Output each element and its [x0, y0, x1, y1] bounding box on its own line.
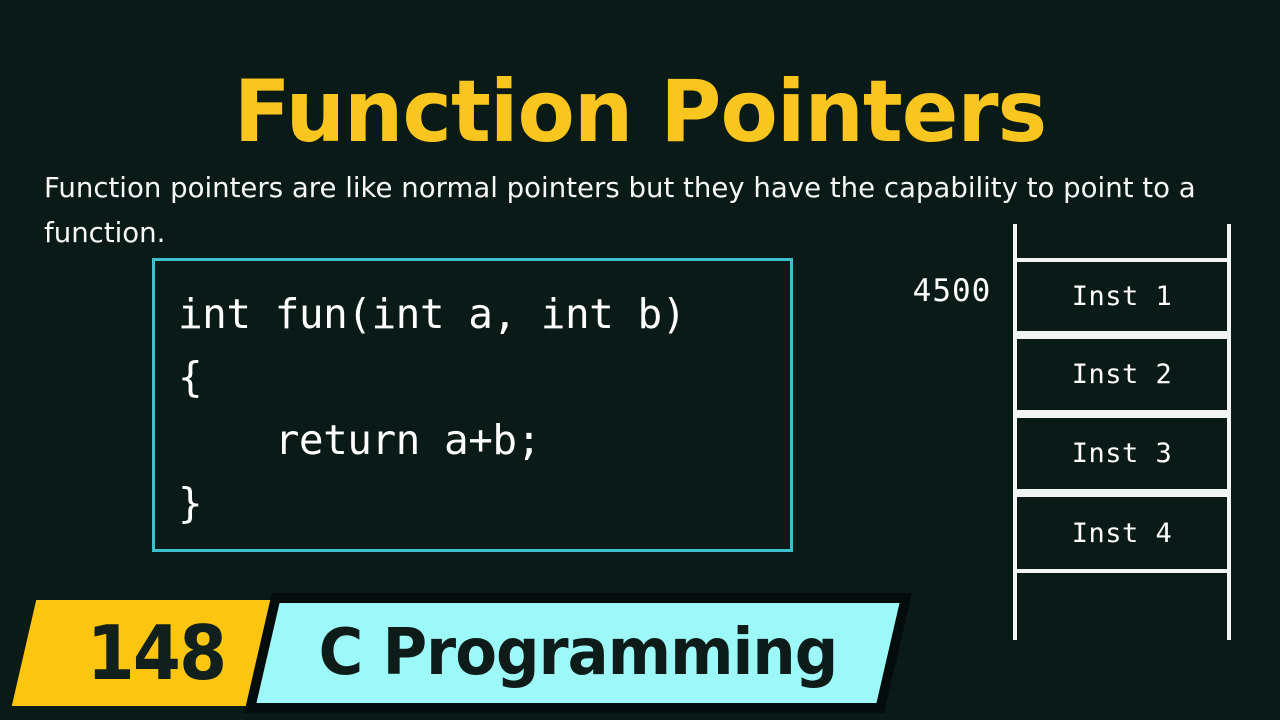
memory-cell: Inst 4: [1013, 493, 1231, 573]
episode-number: 148: [35, 600, 278, 706]
memory-cell: Inst 2: [1013, 335, 1231, 414]
memory-address-label: 4500: [902, 273, 1002, 309]
code-snippet-text: int fun(int a, int b) { return a+b; }: [178, 283, 686, 535]
slide-root: Function Pointers Function pointers are …: [0, 0, 1280, 720]
course-name: C Programming: [284, 603, 873, 703]
code-block: int fun(int a, int b) { return a+b; }: [152, 258, 793, 552]
memory-cell: Inst 1: [1013, 258, 1231, 335]
footer-banner: 148 C Programming: [0, 590, 1280, 720]
memory-diagram: Inst 1 Inst 2 Inst 3 Inst 4: [1013, 224, 1231, 640]
page-title: Function Pointers: [19, 62, 1261, 162]
memory-cell: Inst 3: [1013, 414, 1231, 493]
